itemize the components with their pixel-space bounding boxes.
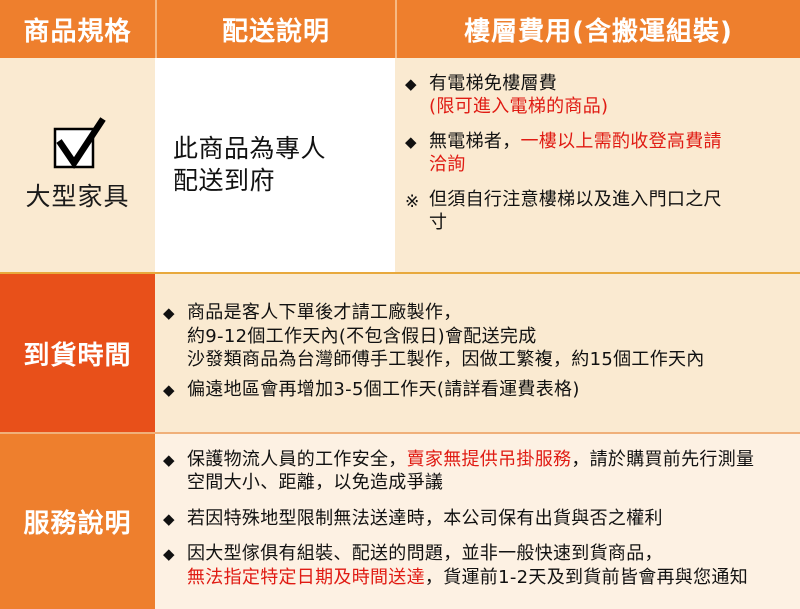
- service-note-label: 服務說明: [23, 503, 131, 540]
- floor-fee-item-3-main: 但須自行注意樓梯以及進入門口之尺: [429, 189, 722, 210]
- checkbox-checked-icon: [47, 117, 109, 171]
- service-item-1-text: 保護物流人員的工作安全，賣家無提供吊掛服務，請於購買前先行測量空間大小、距離，以…: [187, 448, 754, 495]
- floor-fee-item-2-pre: 無電梯者，: [429, 131, 521, 152]
- arrival-item-1-line1: 商品是客人下單後才請工廠製作，: [187, 302, 462, 323]
- cell-floor-fee: ◆ 有電梯免樓層費 (限可進入電梯的商品) ◆ 無電梯者，一樓以上需酌收登高費請…: [395, 58, 800, 272]
- reference-mark-icon: ※: [405, 188, 429, 213]
- diamond-bullet-icon: ◆: [163, 542, 187, 565]
- service-item-1-post: ，請於購買前先行測量: [571, 449, 754, 470]
- list-item: ◆ 無電梯者，一樓以上需酌收登高費請洽詢: [405, 130, 790, 177]
- diamond-bullet-icon: ◆: [405, 72, 429, 95]
- list-item: ◆ 商品是客人下單後才請工廠製作， 約9-12個工作天內(不包含假日)會配送完成…: [163, 301, 792, 371]
- service-item-3-post: ，貨運前1-2天及到貨前皆會再與您通知: [425, 567, 748, 588]
- service-item-3-red: 無法指定特定日期及時間送達: [187, 567, 425, 588]
- diamond-bullet-icon: ◆: [163, 507, 187, 530]
- cell-service-note-label: 服務說明: [0, 434, 155, 609]
- service-item-1-pre: 保護物流人員的工作安全，: [187, 449, 407, 470]
- diamond-bullet-icon: ◆: [405, 130, 429, 153]
- service-item-1-red: 賣家無提供吊掛服務: [407, 449, 572, 470]
- diamond-bullet-icon: ◆: [163, 301, 187, 324]
- service-item-1-sub: 空間大小、距離，以免造成爭議: [187, 471, 754, 494]
- arrival-time-label: 到貨時間: [23, 335, 131, 372]
- floor-fee-item-2-red: 一樓以上需酌收登高費請: [521, 131, 722, 152]
- floor-fee-item-1-text: 有電梯免樓層費 (限可進入電梯的商品): [429, 72, 608, 119]
- arrival-item-2-text: 偏遠地區會再增加3-5個工作天(請詳看運費表格): [187, 378, 580, 401]
- table-row-arrival-time: 到貨時間 ◆ 商品是客人下單後才請工廠製作， 約9-12個工作天內(不包含假日)…: [0, 274, 800, 434]
- arrival-item-1-line3: 沙發類商品為台灣師傅手工製作，因做工繁複，約15個工作天內: [187, 348, 705, 371]
- list-item: ◆ 偏遠地區會再增加3-5個工作天(請詳看運費表格): [163, 378, 792, 401]
- arrival-item-1-text: 商品是客人下單後才請工廠製作， 約9-12個工作天內(不包含假日)會配送完成 沙…: [187, 301, 705, 371]
- header-cell-floor-fee: 樓層費用(含搬運組裝): [395, 0, 800, 58]
- list-item: ◆ 因大型傢俱有組裝、配送的問題，並非一般快速到貨商品，無法指定特定日期及時間送…: [163, 542, 792, 589]
- cell-service-note-content: ◆ 保護物流人員的工作安全，賣家無提供吊掛服務，請於購買前先行測量空間大小、距離…: [155, 434, 800, 609]
- shipping-info-table: 商品規格 配送說明 樓層費用(含搬運組裝) 大型家具 此商品為專人 配送到府: [0, 0, 800, 595]
- delivery-note-text: 此商品為專人 配送到府: [173, 133, 326, 197]
- floor-fee-item-1-main: 有電梯免樓層費: [429, 73, 557, 94]
- cell-arrival-time-label: 到貨時間: [0, 274, 155, 432]
- floor-fee-item-3-text: 但須自行注意樓梯以及進入門口之尺 寸: [429, 188, 722, 235]
- service-item-2-text: 若因特殊地型限制無法送達時，本公司保有出貨與否之權利: [187, 507, 663, 530]
- cell-arrival-time-content: ◆ 商品是客人下單後才請工廠製作， 約9-12個工作天內(不包含假日)會配送完成…: [155, 274, 800, 432]
- arrival-item-1-line2: 約9-12個工作天內(不包含假日)會配送完成: [187, 325, 705, 348]
- service-item-3-pre: 因大型傢俱有組裝、配送的問題，並非一般快速到貨商品，: [187, 543, 663, 564]
- header-label-product-spec: 商品規格: [23, 11, 131, 48]
- diamond-bullet-icon: ◆: [163, 378, 187, 401]
- header-cell-product-spec: 商品規格: [0, 0, 155, 58]
- list-item: ◆ 保護物流人員的工作安全，賣家無提供吊掛服務，請於購買前先行測量空間大小、距離…: [163, 448, 792, 495]
- floor-fee-item-2-red-sub: 洽詢: [429, 153, 722, 176]
- list-item: ◆ 有電梯免樓層費 (限可進入電梯的商品): [405, 72, 790, 119]
- service-item-3-sub-line: 無法指定特定日期及時間送達，貨運前1-2天及到貨前皆會再與您通知: [187, 566, 748, 589]
- delivery-note-line1: 此商品為專人: [173, 134, 326, 163]
- header-label-delivery-note: 配送說明: [222, 11, 330, 48]
- cell-product-spec: 大型家具: [0, 58, 155, 272]
- floor-fee-item-2-text: 無電梯者，一樓以上需酌收登高費請洽詢: [429, 130, 722, 177]
- list-item: ◆ 若因特殊地型限制無法送達時，本公司保有出貨與否之權利: [163, 507, 792, 530]
- list-item: ※ 但須自行注意樓梯以及進入門口之尺 寸: [405, 188, 790, 235]
- header-label-floor-fee: 樓層費用(含搬運組裝): [464, 11, 733, 48]
- floor-fee-item-3-sub: 寸: [429, 211, 722, 234]
- diamond-bullet-icon: ◆: [163, 448, 187, 471]
- header-cell-delivery-note: 配送說明: [155, 0, 395, 58]
- table-row-service-note: 服務說明 ◆ 保護物流人員的工作安全，賣家無提供吊掛服務，請於購買前先行測量空間…: [0, 434, 800, 609]
- delivery-note-line2: 配送到府: [173, 166, 275, 195]
- table-header-row: 商品規格 配送說明 樓層費用(含搬運組裝): [0, 0, 800, 58]
- cell-delivery-note: 此商品為專人 配送到府: [155, 58, 395, 272]
- product-spec-label: 大型家具: [25, 177, 129, 213]
- service-item-3-text: 因大型傢俱有組裝、配送的問題，並非一般快速到貨商品，無法指定特定日期及時間送達，…: [187, 542, 748, 589]
- floor-fee-item-1-sub: (限可進入電梯的商品): [429, 95, 608, 118]
- table-row-large-furniture: 大型家具 此商品為專人 配送到府 ◆ 有電梯免樓層費 (限可進入電梯的商品) ◆…: [0, 58, 800, 274]
